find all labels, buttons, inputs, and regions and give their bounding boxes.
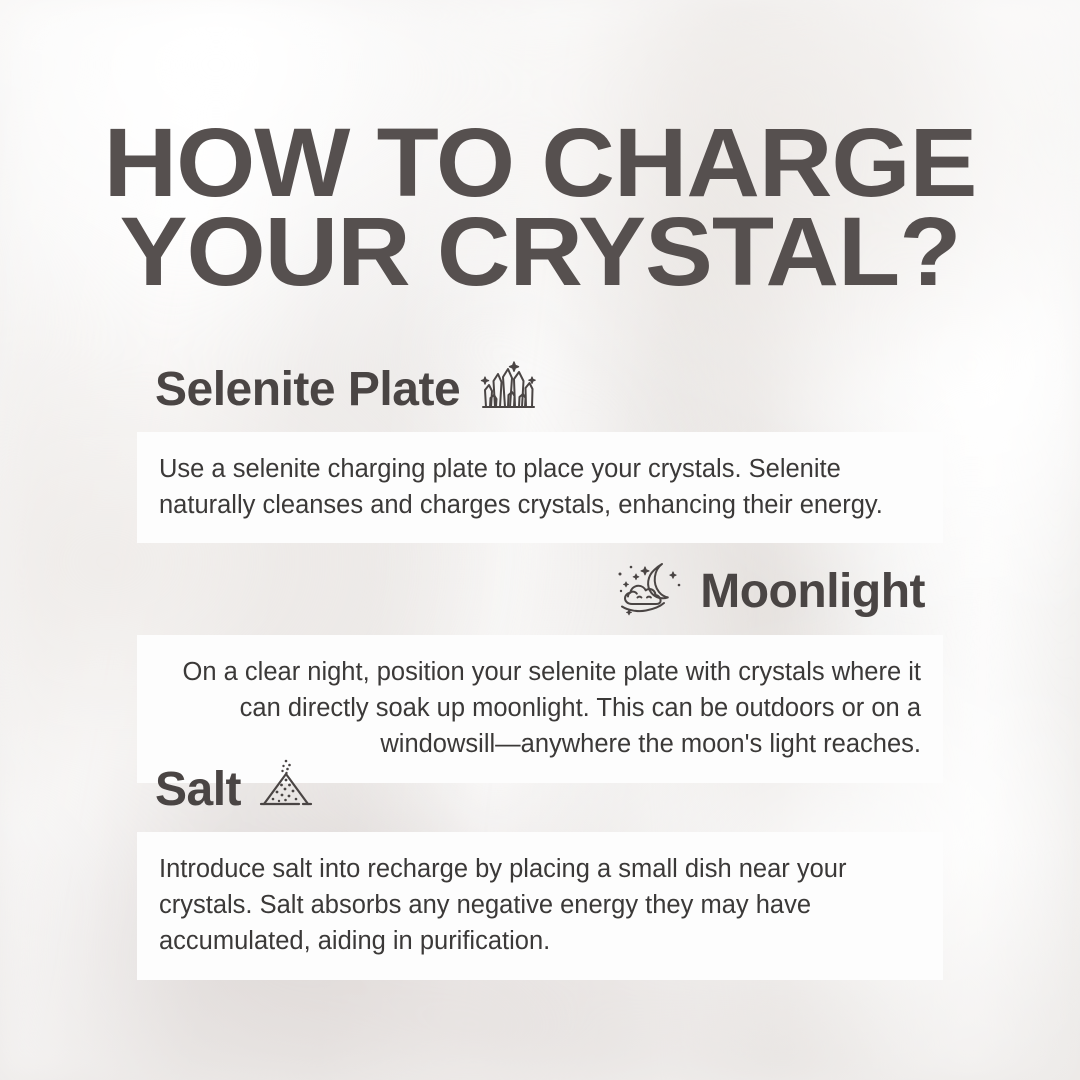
poster-content: HOW TO CHARGE YOUR CRYSTAL? Selenite Pla… [0,0,1080,1080]
section-selenite-plate: Selenite Plate [137,357,943,543]
section-salt: Salt [137,757,943,980]
section-heading-salt: Salt [137,757,943,832]
page-title-line-2: YOUR CRYSTAL? [0,207,1080,296]
salt-pile-icon [255,757,317,822]
section-body-selenite-plate: Use a selenite charging plate to place y… [137,432,943,543]
section-body-text: On a clear night, position your selenite… [159,654,921,763]
section-body-salt: Introduce salt into recharge by placing … [137,832,943,980]
section-heading-selenite-plate: Selenite Plate [137,357,943,432]
crescent-moon-clouds-icon [612,558,686,625]
section-heading-label: Salt [155,766,241,814]
section-body-text: Use a selenite charging plate to place y… [159,451,921,523]
section-body-text: Introduce salt into recharge by placing … [159,851,921,960]
section-heading-label: Moonlight [700,568,925,616]
section-heading-moonlight: Moonlight [137,558,943,635]
page-title: HOW TO CHARGE YOUR CRYSTAL? [0,118,1080,296]
crystal-cluster-icon [474,357,540,422]
section-heading-label: Selenite Plate [155,366,460,414]
section-moonlight: Moonlight On a clear night, position you… [137,558,943,783]
infographic-poster: HOW TO CHARGE YOUR CRYSTAL? Selenite Pla… [0,0,1080,1080]
page-title-line-1: HOW TO CHARGE [0,118,1080,207]
